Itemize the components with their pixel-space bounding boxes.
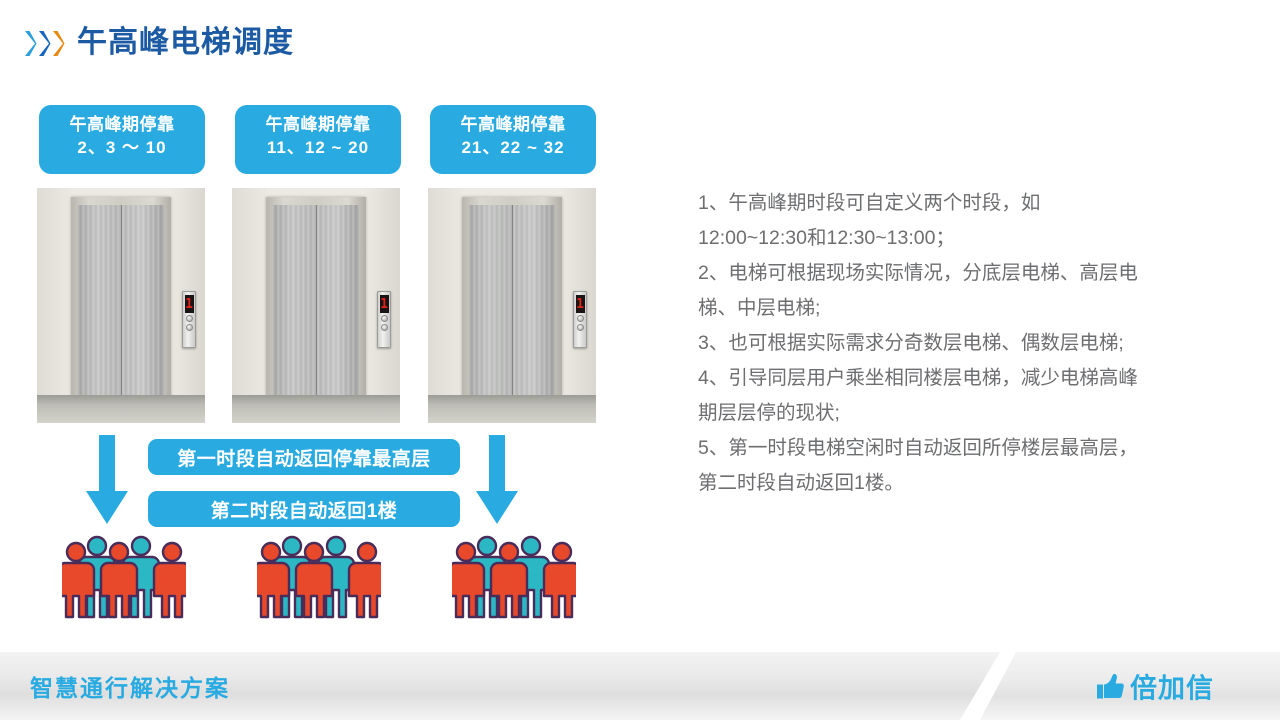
brand-lockup: 倍加信 xyxy=(1095,667,1214,706)
elevator-door-1 xyxy=(78,205,165,408)
note-line-2: 12:00~12:30和12:30~13:00； xyxy=(698,221,1190,256)
stop-range-badge-3: 午高峰期停靠 21、22 ~ 32 xyxy=(430,105,596,174)
down-arrow-icon-right xyxy=(475,435,519,525)
people-group-icon-1 xyxy=(62,533,186,619)
door-frame-3 xyxy=(462,197,563,411)
page-title: 午高峰电梯调度 xyxy=(77,28,294,58)
notes-panel: 1、午高峰期时段可自定义两个时段，如 12:00~12:30和12:30~13:… xyxy=(698,186,1190,501)
floor-indicator-1: 1 xyxy=(185,295,194,313)
return-bar-period-2: 第二时段自动返回1楼 xyxy=(148,491,460,527)
wall-left-2 xyxy=(232,188,266,423)
chevron-right-icon-1 xyxy=(24,30,37,57)
chevron-right-icon-3 xyxy=(52,30,65,57)
badge-range-2: 11、12 ~ 20 xyxy=(241,137,395,160)
elevator-door-2 xyxy=(273,205,360,408)
note-line-6: 4、引导同层用户乘坐相同楼层电梯，减少电梯高峰 xyxy=(698,361,1190,396)
note-line-8: 5、第一时段电梯空闲时自动返回所停楼层最高层， xyxy=(698,431,1190,466)
chevron-right-icon-2 xyxy=(38,30,51,57)
thumbs-up-icon xyxy=(1095,672,1125,700)
note-line-3: 2、电梯可根据现场实际情况，分底层电梯、高层电 xyxy=(698,256,1190,291)
wall-left-1 xyxy=(37,188,71,423)
floor-indicator-3: 1 xyxy=(576,295,585,313)
elevator-door-3 xyxy=(469,205,556,408)
note-line-5: 3、也可根据实际需求分奇数层电梯、偶数层电梯; xyxy=(698,326,1190,361)
down-arrow-icon-left xyxy=(85,435,129,525)
people-group-icon-3 xyxy=(452,533,576,619)
floor-2 xyxy=(232,395,400,423)
door-split-line-1 xyxy=(121,205,123,408)
floor-indicator-2: 1 xyxy=(380,295,389,313)
badge-range-3: 21、22 ~ 32 xyxy=(436,137,590,160)
stop-range-badge-1: 午高峰期停靠 2、3 ～ 10 xyxy=(39,105,205,174)
floor-1 xyxy=(37,395,205,423)
badge-range-1: 2、3 ～ 10 xyxy=(45,137,199,160)
elevator-photo-1: 1 xyxy=(37,188,205,423)
note-line-7: 期层层停的现状; xyxy=(698,396,1190,431)
call-button-up-1 xyxy=(186,315,193,322)
call-button-down-1 xyxy=(186,324,193,331)
call-button-down-3 xyxy=(577,324,584,331)
stop-range-badge-2: 午高峰期停靠 11、12 ~ 20 xyxy=(235,105,401,174)
floor-3 xyxy=(428,395,596,423)
note-line-4: 梯、中层电梯; xyxy=(698,291,1190,326)
elevator-photo-3: 1 xyxy=(428,188,596,423)
call-panel-1: 1 xyxy=(182,291,196,348)
door-frame-1 xyxy=(71,197,172,411)
wall-left-3 xyxy=(428,188,462,423)
people-group-icon-2 xyxy=(257,533,381,619)
chevron-group-icon xyxy=(24,28,65,58)
note-line-9: 第二时段自动返回1楼。 xyxy=(698,466,1190,501)
badge-title-2: 午高峰期停靠 xyxy=(241,114,395,137)
call-panel-2: 1 xyxy=(377,291,391,348)
slide-root: 午高峰电梯调度 午高峰期停靠 2、3 ～ 10 午高峰期停靠 11、12 ~ 2… xyxy=(0,0,1280,720)
door-split-line-2 xyxy=(316,205,318,408)
door-frame-2 xyxy=(266,197,367,411)
elevator-dispatch-diagram: 午高峰期停靠 2、3 ～ 10 午高峰期停靠 11、12 ~ 20 午高峰期停靠… xyxy=(0,95,640,635)
slide-header: 午高峰电梯调度 xyxy=(24,28,294,58)
brand-name: 倍加信 xyxy=(1130,667,1214,706)
call-button-up-3 xyxy=(577,315,584,322)
door-split-line-3 xyxy=(512,205,514,408)
elevator-photo-2: 1 xyxy=(232,188,400,423)
return-bar-period-1: 第一时段自动返回停靠最高层 xyxy=(148,439,460,475)
footer-solution-title: 智慧通行解决方案 xyxy=(30,669,230,703)
badge-title-1: 午高峰期停靠 xyxy=(45,114,199,137)
slide-footer: 智慧通行解决方案 倍加信 xyxy=(0,652,1280,720)
badge-title-3: 午高峰期停靠 xyxy=(436,114,590,137)
call-button-up-2 xyxy=(381,315,388,322)
note-line-1: 1、午高峰期时段可自定义两个时段，如 xyxy=(698,186,1190,221)
call-button-down-2 xyxy=(381,324,388,331)
call-panel-3: 1 xyxy=(573,291,587,348)
